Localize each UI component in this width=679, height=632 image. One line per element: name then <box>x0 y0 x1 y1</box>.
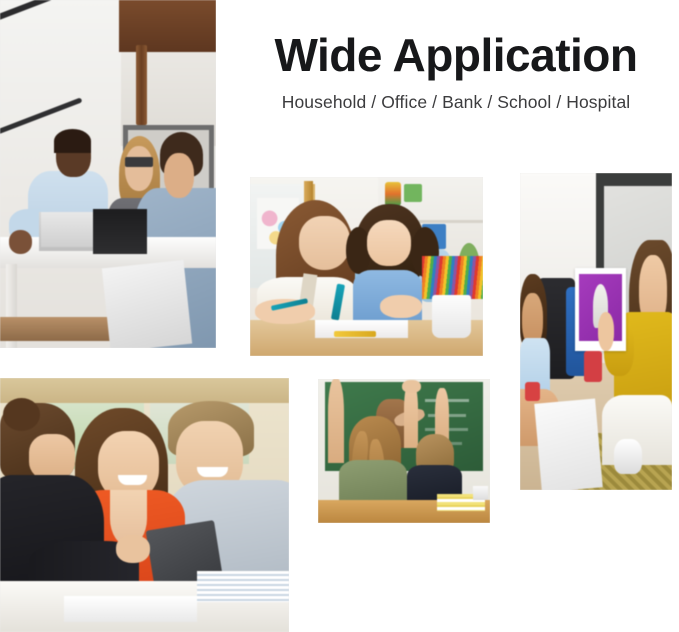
wide-application-banner: Wide Application Household / Office / Ba… <box>0 0 679 632</box>
collage-photo-bank-consultation <box>0 371 296 632</box>
collage-photo-therapist-flashcard <box>513 166 679 497</box>
collage-photo-classroom-hands-up <box>311 372 497 530</box>
collage-photo-mother-child-drawing <box>243 170 490 363</box>
photo-bank-consultation <box>0 378 289 632</box>
collage-photo-office-meeting <box>0 0 223 355</box>
photo-mother-child-drawing <box>250 177 483 356</box>
photo-frame <box>311 372 497 530</box>
photo-frame <box>243 170 490 363</box>
photo-classroom-hands-up <box>318 379 490 523</box>
photo-frame <box>0 0 223 355</box>
page-title: Wide Application <box>240 30 672 82</box>
header-block: Wide Application Household / Office / Ba… <box>240 30 672 113</box>
photo-therapist-flashcard <box>520 173 672 490</box>
photo-office-meeting <box>0 0 216 348</box>
page-subtitle: Household / Office / Bank / School / Hos… <box>240 92 672 113</box>
photo-frame <box>0 371 296 632</box>
photo-frame <box>513 166 679 497</box>
